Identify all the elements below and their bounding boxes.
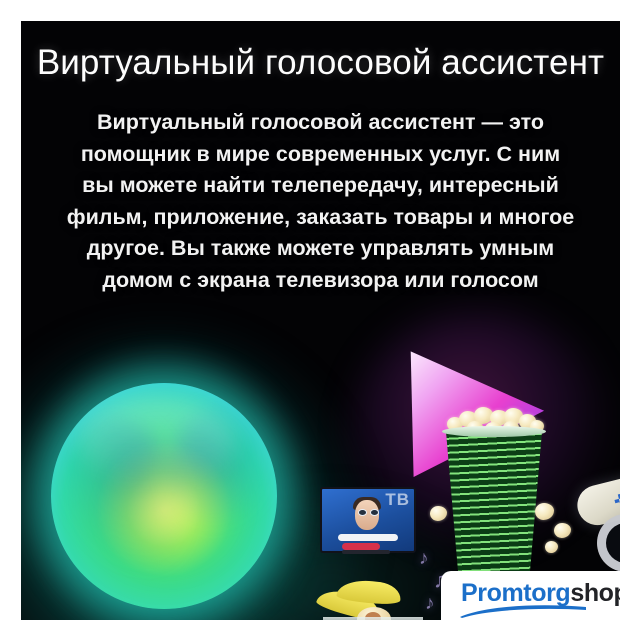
tv-screen: ТВ <box>320 487 416 553</box>
promo-poster: Виртуальный голосовой ассистент Виртуаль… <box>21 21 620 620</box>
brand-name-secondary: shop <box>570 579 620 607</box>
voice-assistant-orb <box>51 383 277 609</box>
popcorn-bucket <box>439 409 549 594</box>
bananas-and-bowl <box>313 579 433 620</box>
popcorn-kernel-loose <box>545 541 558 553</box>
brand-name-primary: Promtorg <box>461 579 570 607</box>
music-note-icon: ♪ <box>419 548 429 570</box>
page-title: Виртуальный голосовой ассистент <box>21 43 620 83</box>
brand-logo[interactable]: Promtorgshop <box>441 571 620 620</box>
tv-avatar-eye-left <box>358 509 367 516</box>
tv-accent-bar <box>342 543 380 550</box>
tv-stand <box>342 550 390 554</box>
tv-avatar-eye-right <box>370 509 379 516</box>
description-text: Виртуальный голосовой ассистент — это по… <box>65 107 576 296</box>
dpad-icon: ✜ <box>611 492 620 511</box>
brand-swoosh-icon <box>459 604 587 618</box>
bucket-rim <box>442 426 546 437</box>
bucket-body <box>444 431 544 594</box>
orb-sheen <box>78 397 236 487</box>
bowl <box>323 617 423 620</box>
music-note-icon: ♪ <box>425 593 435 615</box>
game-controller: ✜ <box>577 476 620 566</box>
tv-search-bar <box>338 534 398 541</box>
popcorn-kernel-loose <box>554 523 571 538</box>
orb-sphere <box>51 383 277 609</box>
tv-screen-label: ТВ <box>385 490 410 510</box>
television: ТВ <box>320 487 412 559</box>
popcorn-kernel-loose <box>535 503 554 520</box>
